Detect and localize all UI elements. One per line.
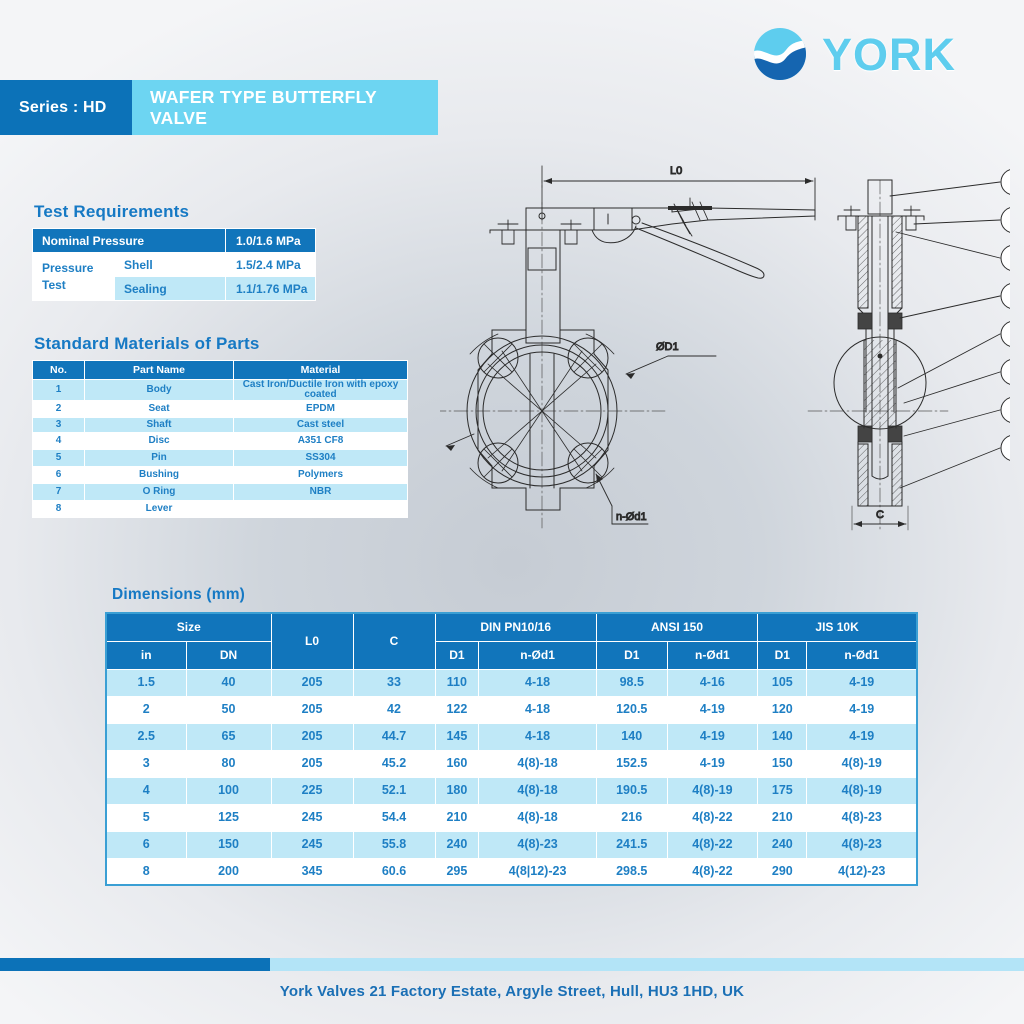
test-requirements-heading: Test Requirements [34, 202, 189, 222]
table-row: 1.5 40 205 33 110 4-18 98.5 4-16 105 4-1… [106, 669, 917, 696]
dim-dn: 65 [186, 723, 271, 750]
dim-jis-nd1: 4-19 [807, 723, 917, 750]
c-dimension-label: C [876, 509, 884, 521]
holes-label: n-Ød1 [616, 511, 647, 523]
dim-din-nd1: 4(8)-18 [479, 750, 597, 777]
dim-sub-ansi-nd1: n-Ød1 [667, 641, 758, 669]
dim-din-d1: 145 [435, 723, 479, 750]
pressure-test-group-label: Pressure Test [33, 253, 115, 301]
material-part: Bushing [85, 467, 234, 484]
table-row: 5 125 245 54.4 210 4(8)-18 216 4(8)-22 2… [106, 804, 917, 831]
dim-din-nd1: 4-18 [479, 696, 597, 723]
dim-dn: 100 [186, 777, 271, 804]
dim-jis-nd1: 4(8)-19 [807, 777, 917, 804]
dim-jis-d1: 240 [758, 831, 807, 858]
table-row: 8 200 345 60.6 295 4(8|12)-23 298.5 4(8)… [106, 858, 917, 885]
table-row: 2 Seat EPDM [33, 401, 408, 418]
dim-dn: 125 [186, 804, 271, 831]
dim-ansi-nd1: 4(8)-22 [667, 804, 758, 831]
dim-in: 3 [106, 750, 186, 777]
material-part: Lever [85, 501, 234, 518]
dim-c: 60.6 [353, 858, 435, 885]
table-row: Pressure Test Shell 1.5/2.4 MPa [33, 253, 316, 277]
dim-c: 55.8 [353, 831, 435, 858]
dim-ansi-d1: 152.5 [596, 750, 667, 777]
material-name: A351 CF8 [234, 433, 408, 450]
materials-table: No. Part Name Material 1 Body Cast Iron/… [32, 360, 408, 518]
dim-l0: 205 [271, 696, 353, 723]
callout-7 [1001, 207, 1010, 233]
dim-ansi-nd1: 4(8)-22 [667, 858, 758, 885]
dim-ansi-nd1: 4-19 [667, 723, 758, 750]
materials-col-no: No. [33, 361, 85, 380]
datasheet-page: YORK Series : HD WAFER TYPE BUTTERFLY VA… [0, 0, 1024, 1024]
technical-drawing: L0 [440, 158, 1010, 548]
series-label: Series : HD [0, 99, 107, 117]
dim-jis-d1: 140 [758, 723, 807, 750]
dim-jis-d1: 150 [758, 750, 807, 777]
dim-din-d1: 210 [435, 804, 479, 831]
title-bar: Series : HD WAFER TYPE BUTTERFLY VALVE [0, 80, 438, 135]
callout-5 [1001, 283, 1010, 309]
dim-c: 52.1 [353, 777, 435, 804]
material-no: 2 [33, 401, 85, 418]
dim-l0: 205 [271, 669, 353, 696]
table-row: 4 100 225 52.1 180 4(8)-18 190.5 4(8)-19… [106, 777, 917, 804]
brand-logo: YORK [752, 26, 956, 82]
table-row: 5 Pin SS304 [33, 450, 408, 467]
dimensions-table: Size L0 C DIN PN10/16 ANSI 150 JIS 10K i… [105, 612, 918, 886]
material-name: Polymers [234, 467, 408, 484]
bolt-circle-diameter-label: ØD1 [656, 341, 679, 353]
materials-col-mat: Material [234, 361, 408, 380]
material-name [234, 501, 408, 518]
callout-bubbles [1001, 169, 1010, 461]
dim-ansi-nd1: 4(8)-19 [667, 777, 758, 804]
dim-dn: 150 [186, 831, 271, 858]
dim-l0: 225 [271, 777, 353, 804]
material-part: Seat [85, 401, 234, 418]
dim-din-d1: 295 [435, 858, 479, 885]
dim-ansi-nd1: 4-19 [667, 750, 758, 777]
footer-bar [0, 958, 1024, 971]
dim-c: 42 [353, 696, 435, 723]
material-name: Cast Iron/Ductile Iron with epoxy coated [234, 380, 408, 401]
dim-sub-in: in [106, 641, 186, 669]
callout-4 [1001, 321, 1010, 347]
material-no: 8 [33, 501, 85, 518]
dim-din-nd1: 4(8)-18 [479, 777, 597, 804]
table-row: 3 80 205 45.2 160 4(8)-18 152.5 4-19 150… [106, 750, 917, 777]
callout-leaders [890, 182, 1000, 488]
dim-in: 1.5 [106, 669, 186, 696]
dim-ansi-nd1: 4(8)-22 [667, 831, 758, 858]
table-row: 2.5 65 205 44.7 145 4-18 140 4-19 140 4-… [106, 723, 917, 750]
shell-row-label: Shell [115, 253, 226, 277]
dim-din-nd1: 4-18 [479, 723, 597, 750]
dim-l0: 205 [271, 723, 353, 750]
dim-group-ansi: ANSI 150 [596, 613, 757, 641]
dim-c: 33 [353, 669, 435, 696]
dim-sub-din-nd1: n-Ød1 [479, 641, 597, 669]
dim-group-jis: JIS 10K [758, 613, 917, 641]
dim-c: 45.2 [353, 750, 435, 777]
dim-in: 4 [106, 777, 186, 804]
dim-ansi-d1: 140 [596, 723, 667, 750]
dim-l0: 245 [271, 804, 353, 831]
dim-din-d1: 160 [435, 750, 479, 777]
product-title: WAFER TYPE BUTTERFLY VALVE [132, 87, 438, 129]
series-badge: Series : HD [0, 80, 132, 135]
dim-jis-nd1: 4-19 [807, 669, 917, 696]
dim-in: 5 [106, 804, 186, 831]
dim-group-l0: L0 [271, 613, 353, 669]
dim-sub-dn: DN [186, 641, 271, 669]
dim-din-nd1: 4-18 [479, 669, 597, 696]
l0-label: L0 [670, 165, 682, 177]
brand-name: YORK [822, 32, 956, 77]
material-part: Shaft [85, 418, 234, 433]
dim-ansi-d1: 298.5 [596, 858, 667, 885]
material-name: Cast steel [234, 418, 408, 433]
dim-dn: 40 [186, 669, 271, 696]
dim-jis-nd1: 4(8)-23 [807, 804, 917, 831]
sealing-row-label: Sealing [115, 277, 226, 301]
dim-din-nd1: 4(8)-18 [479, 804, 597, 831]
callout-1 [1001, 435, 1010, 461]
dim-din-d1: 110 [435, 669, 479, 696]
dim-in: 6 [106, 831, 186, 858]
dim-dn: 50 [186, 696, 271, 723]
dim-ansi-d1: 190.5 [596, 777, 667, 804]
materials-heading: Standard Materials of Parts [34, 334, 260, 354]
dim-group-din: DIN PN10/16 [435, 613, 596, 641]
table-header-row: No. Part Name Material [33, 361, 408, 380]
dim-jis-nd1: 4(12)-23 [807, 858, 917, 885]
dim-jis-d1: 210 [758, 804, 807, 831]
material-no: 5 [33, 450, 85, 467]
dim-l0: 205 [271, 750, 353, 777]
callout-2 [1001, 397, 1010, 423]
table-header-row: Size L0 C DIN PN10/16 ANSI 150 JIS 10K [106, 613, 917, 641]
table-row: 6 Bushing Polymers [33, 467, 408, 484]
dim-dn: 80 [186, 750, 271, 777]
dim-c: 54.4 [353, 804, 435, 831]
nominal-pressure-value: 1.0/1.6 MPa [226, 229, 316, 253]
table-row: 1 Body Cast Iron/Ductile Iron with epoxy… [33, 380, 408, 401]
dim-jis-d1: 175 [758, 777, 807, 804]
dim-din-nd1: 4(8)-23 [479, 831, 597, 858]
dim-group-c: C [353, 613, 435, 669]
material-part: Disc [85, 433, 234, 450]
dim-in: 2 [106, 696, 186, 723]
dim-ansi-d1: 216 [596, 804, 667, 831]
dim-sub-jis-nd1: n-Ød1 [807, 641, 917, 669]
callout-8 [1001, 169, 1010, 195]
dim-din-d1: 122 [435, 696, 479, 723]
footer-address: York Valves 21 Factory Estate, Argyle St… [0, 983, 1024, 1000]
material-no: 1 [33, 380, 85, 401]
dim-ansi-nd1: 4-16 [667, 669, 758, 696]
material-no: 7 [33, 484, 85, 501]
material-name: EPDM [234, 401, 408, 418]
dim-din-d1: 240 [435, 831, 479, 858]
sealing-row-value: 1.1/1.76 MPa [226, 277, 316, 301]
table-row: 6 150 245 55.8 240 4(8)-23 241.5 4(8)-22… [106, 831, 917, 858]
product-title-badge: WAFER TYPE BUTTERFLY VALVE [132, 80, 438, 135]
dim-jis-nd1: 4-19 [807, 696, 917, 723]
dim-group-size: Size [106, 613, 271, 641]
pressure-test-line1: Pressure [42, 262, 114, 274]
pressure-test-line2: Test [42, 279, 114, 291]
dim-jis-nd1: 4(8)-23 [807, 831, 917, 858]
table-row: 8 Lever [33, 501, 408, 518]
d1-leader [626, 356, 716, 379]
dim-din-nd1: 4(8|12)-23 [479, 858, 597, 885]
material-part: O Ring [85, 484, 234, 501]
dim-sub-ansi-d1: D1 [596, 641, 667, 669]
material-name: NBR [234, 484, 408, 501]
dim-jis-nd1: 4(8)-19 [807, 750, 917, 777]
dim-jis-d1: 290 [758, 858, 807, 885]
table-row: 7 O Ring NBR [33, 484, 408, 501]
dim-sub-jis-d1: D1 [758, 641, 807, 669]
table-row: 2 50 205 42 122 4-18 120.5 4-19 120 4-19 [106, 696, 917, 723]
material-name: SS304 [234, 450, 408, 467]
dim-din-d1: 180 [435, 777, 479, 804]
dim-l0: 245 [271, 831, 353, 858]
materials-col-part: Part Name [85, 361, 234, 380]
table-row: Nominal Pressure 1.0/1.6 MPa [33, 229, 316, 253]
callout-3 [1001, 359, 1010, 385]
dim-ansi-nd1: 4-19 [667, 696, 758, 723]
york-wave-circle-logo-icon [752, 26, 808, 82]
dim-dn: 200 [186, 858, 271, 885]
dim-in: 8 [106, 858, 186, 885]
shell-row-value: 1.5/2.4 MPa [226, 253, 316, 277]
dim-l0: 345 [271, 858, 353, 885]
nominal-pressure-label: Nominal Pressure [33, 229, 226, 253]
test-requirements-table: Nominal Pressure 1.0/1.6 MPa Pressure Te… [32, 228, 316, 301]
dim-in: 2.5 [106, 723, 186, 750]
material-part: Pin [85, 450, 234, 467]
dim-jis-d1: 105 [758, 669, 807, 696]
table-header-row: in DN D1 n-Ød1 D1 n-Ød1 D1 n-Ød1 [106, 641, 917, 669]
table-row: 4 Disc A351 CF8 [33, 433, 408, 450]
dim-c: 44.7 [353, 723, 435, 750]
dim-jis-d1: 120 [758, 696, 807, 723]
dim-ansi-d1: 98.5 [596, 669, 667, 696]
dim-ansi-d1: 120.5 [596, 696, 667, 723]
section-view: C [808, 169, 1010, 530]
material-no: 3 [33, 418, 85, 433]
callout-6 [1001, 245, 1010, 271]
dimensions-heading: Dimensions (mm) [112, 586, 245, 604]
table-row: 3 Shaft Cast steel [33, 418, 408, 433]
material-no: 4 [33, 433, 85, 450]
material-no: 6 [33, 467, 85, 484]
dim-ansi-d1: 241.5 [596, 831, 667, 858]
material-part: Body [85, 380, 234, 401]
dim-sub-din-d1: D1 [435, 641, 479, 669]
